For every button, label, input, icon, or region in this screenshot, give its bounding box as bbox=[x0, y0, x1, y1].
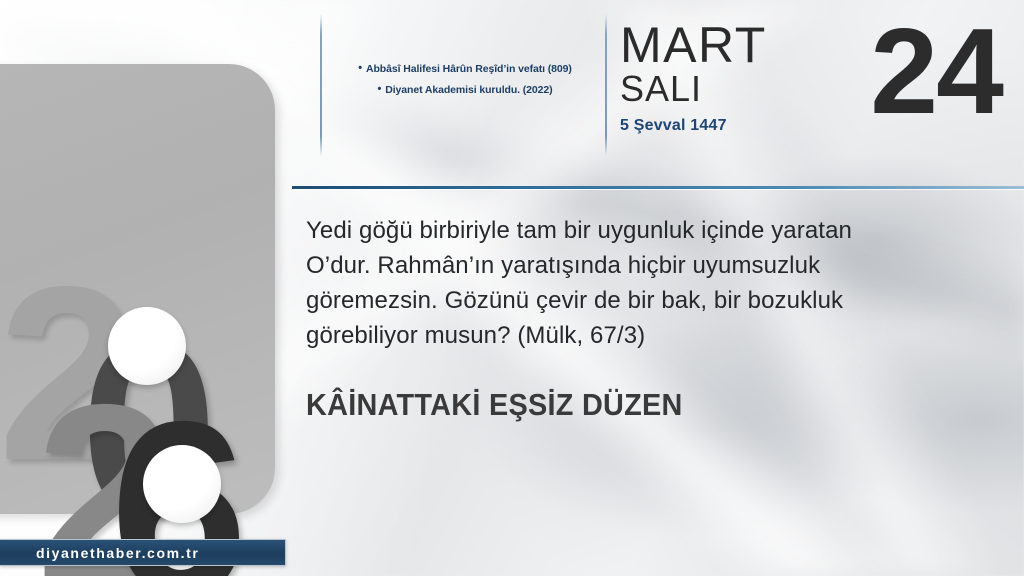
bullet-icon: • bbox=[377, 83, 381, 95]
vertical-divider-left bbox=[320, 14, 322, 156]
weekday-label: SALI bbox=[620, 70, 830, 108]
logo-circle-bottom bbox=[143, 445, 221, 523]
events-list: •Abbâsî Halifesi Hârûn Reşîd’in vefatı (… bbox=[330, 62, 600, 105]
left-grey-panel: 2 0 2 6 bbox=[0, 64, 275, 514]
calendar-page: 2 0 2 6 •Abbâsî Halifesi Hârûn Reşîd’in … bbox=[0, 0, 1024, 576]
logo-circle-top bbox=[108, 307, 186, 385]
date-block: MART SALI 5 Şevval 1447 bbox=[620, 22, 830, 135]
verse-text: Yedi göğü birbiriyle tam bir uygunluk iç… bbox=[306, 213, 916, 353]
page-title: KÂİNATTAKİ EŞSİZ DÜZEN bbox=[306, 387, 683, 423]
horizontal-divider bbox=[292, 186, 1024, 189]
event-item: •Diyanet Akademisi kuruldu. (2022) bbox=[330, 83, 600, 96]
day-number: 24 bbox=[870, 10, 1002, 132]
vertical-divider-right bbox=[605, 14, 607, 156]
event-text: Abbâsî Halifesi Hârûn Reşîd’in vefatı (8… bbox=[366, 63, 572, 75]
website-url-bar[interactable]: diyanethaber.com.tr bbox=[0, 539, 286, 566]
website-url-text: diyanethaber.com.tr bbox=[36, 545, 199, 561]
event-item: •Abbâsî Halifesi Hârûn Reşîd’in vefatı (… bbox=[330, 62, 600, 75]
month-label: MART bbox=[620, 22, 830, 68]
bullet-icon: • bbox=[358, 62, 362, 74]
hijri-date: 5 Şevval 1447 bbox=[620, 117, 830, 135]
year-logo-2026: 2 0 2 6 bbox=[0, 249, 258, 569]
event-text: Diyanet Akademisi kuruldu. (2022) bbox=[385, 84, 552, 96]
